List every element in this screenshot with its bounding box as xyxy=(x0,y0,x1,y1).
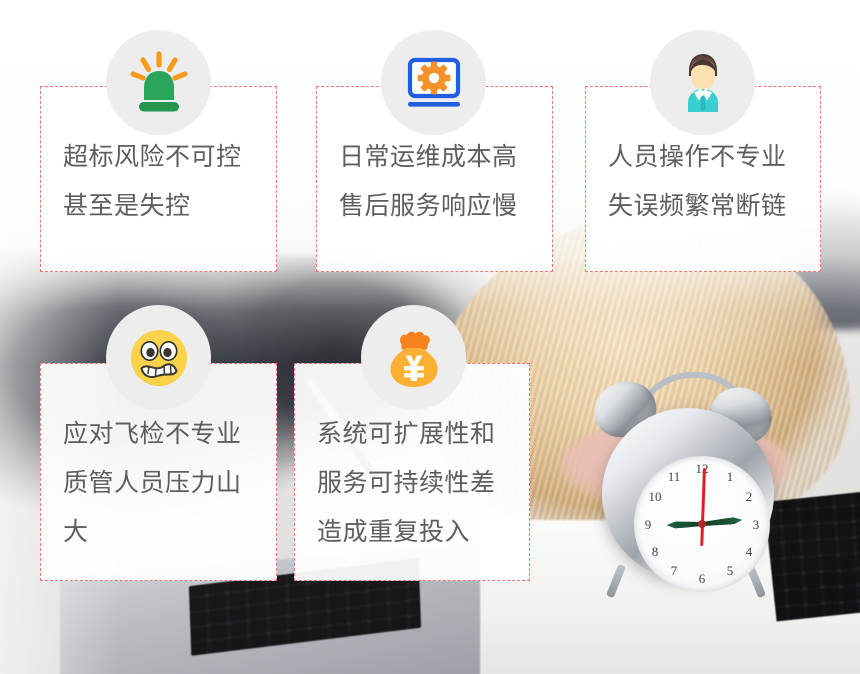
businessman-icon-bubble xyxy=(650,30,755,135)
laptop-gear-icon xyxy=(398,47,470,119)
card-repeat-investment-text: 系统可扩展性和 服务可持续性差 造成重复投入 xyxy=(317,410,519,557)
money-bag-icon xyxy=(378,322,450,394)
businessman-icon xyxy=(667,47,739,119)
card-inspection-pressure-text: 应对飞检不专业 质管人员压力山 大 xyxy=(63,410,266,557)
card-maintenance-cost-text: 日常运维成本高 售后服务响应慢 xyxy=(339,133,542,231)
grimacing-face-icon-bubble xyxy=(106,305,211,410)
card-over-limit-risk-text: 超标风险不可控 甚至是失控 xyxy=(63,133,266,231)
siren-light-icon xyxy=(123,47,195,119)
money-bag-icon-bubble xyxy=(361,305,466,410)
siren-light-icon-bubble xyxy=(106,30,211,135)
laptop-gear-icon-bubble xyxy=(381,30,486,135)
page-root: 12 1 2 3 4 5 6 7 8 9 10 11 xyxy=(0,0,860,674)
card-unprofessional-staff-text: 人员操作不专业 失误频繁常断链 xyxy=(608,133,810,231)
grimacing-face-icon xyxy=(123,322,195,394)
